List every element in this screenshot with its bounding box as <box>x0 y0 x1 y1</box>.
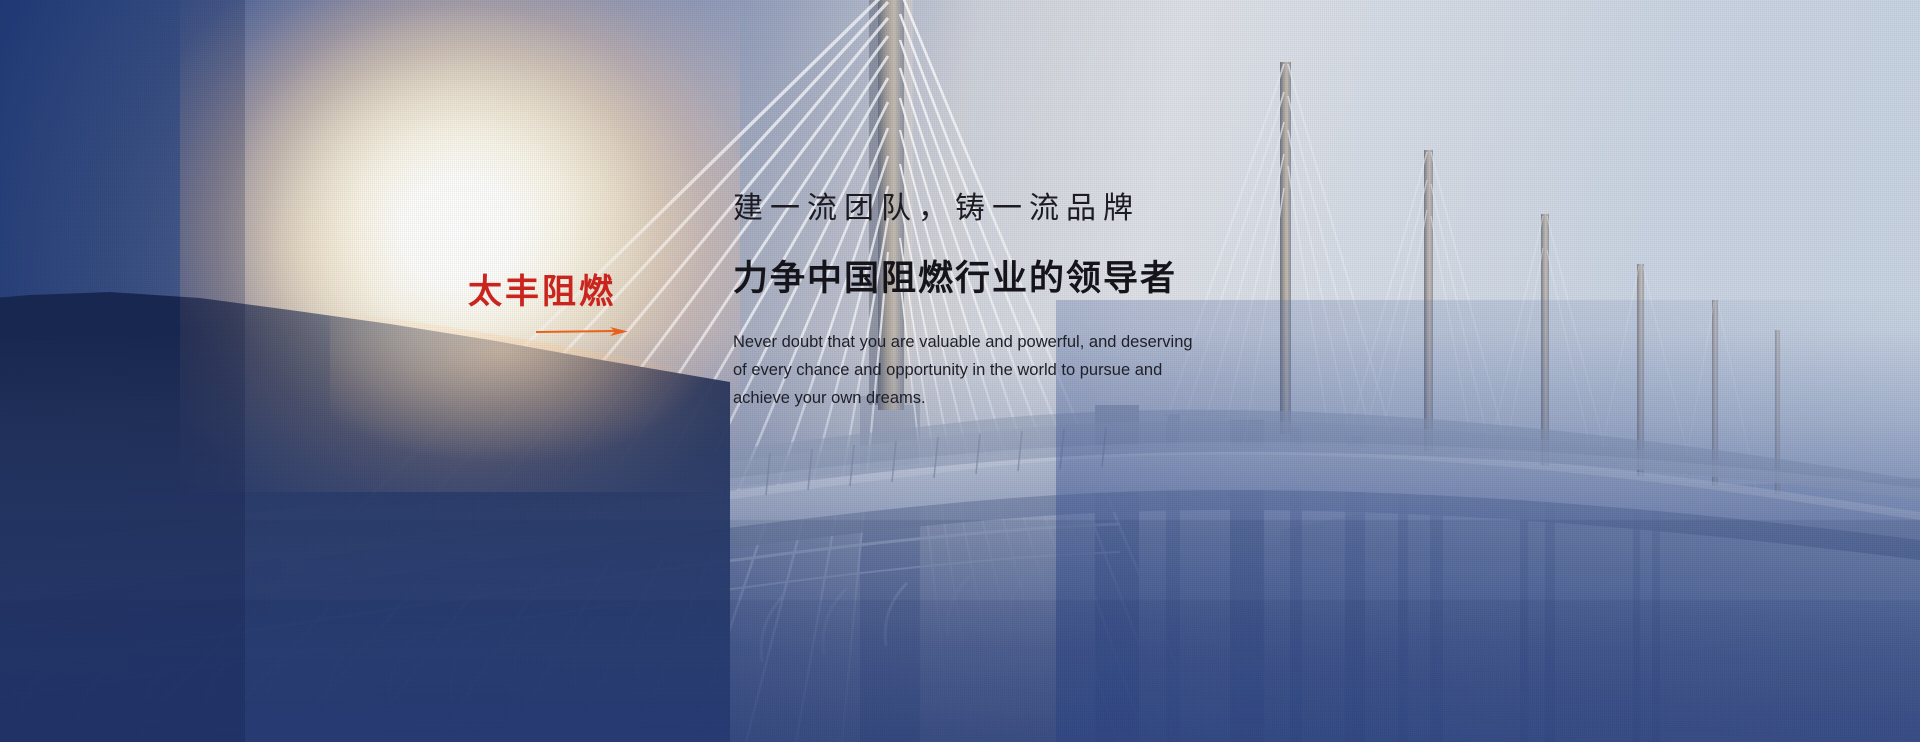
hero-banner: 太丰阻燃 建一流团队，铸一流品牌 力争中国阻燃行业的领导者 Never doub… <box>0 0 1920 742</box>
headline-primary: 建一流团队，铸一流品牌 <box>733 190 1493 228</box>
banner-content: 太丰阻燃 建一流团队，铸一流品牌 力争中国阻燃行业的领导者 Never doub… <box>0 0 1920 742</box>
arrow-right-icon <box>536 326 628 338</box>
headline-block: 建一流团队，铸一流品牌 力争中国阻燃行业的领导者 Never doubt tha… <box>733 190 1493 412</box>
banner-subtext: Never doubt that you are valuable and po… <box>733 328 1203 412</box>
company-logo[interactable]: 太丰阻燃 <box>468 272 648 338</box>
logo-text: 太丰阻燃 <box>468 272 648 312</box>
headline-secondary: 力争中国阻燃行业的领导者 <box>733 258 1493 300</box>
